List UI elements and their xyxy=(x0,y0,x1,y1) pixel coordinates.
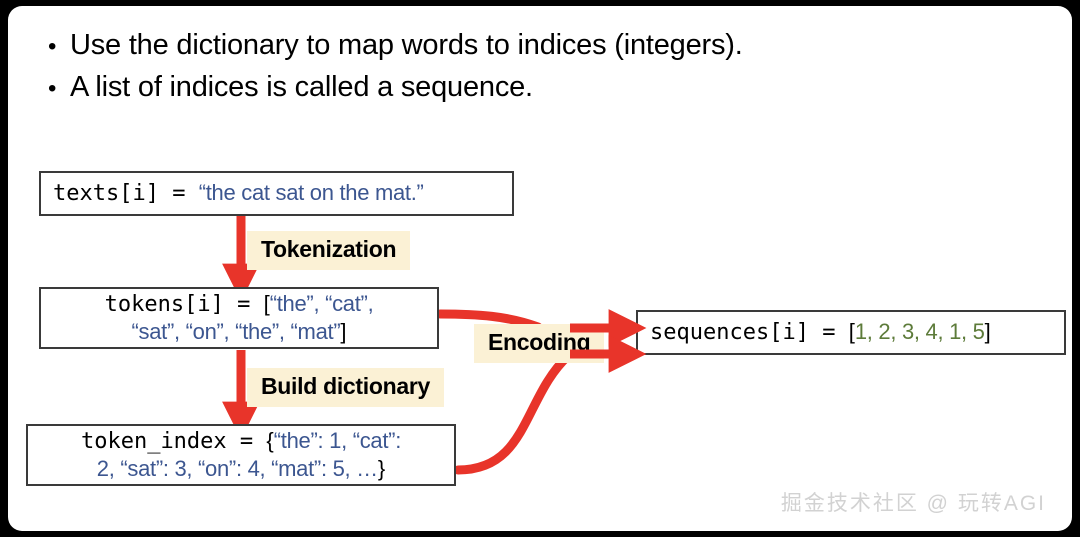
equals-sign: = xyxy=(240,429,253,454)
close-bracket: ] xyxy=(340,319,346,344)
code-box-texts: texts[i] = “the cat sat on the mat.” xyxy=(39,171,514,216)
string-literal: “the cat sat on the mat.” xyxy=(199,180,424,205)
var-name: tokens[i] xyxy=(105,292,224,317)
watermark: 掘金技术社区 @ 玩转AGI xyxy=(781,487,1046,517)
slide-canvas: • Use the dictionary to map words to ind… xyxy=(8,6,1072,531)
close-brace: } xyxy=(378,456,385,481)
equals-sign: = xyxy=(822,320,835,345)
var-name: texts[i] xyxy=(53,181,159,206)
token-list-line1: “the”, “cat”, xyxy=(270,291,374,316)
equals-sign: = xyxy=(172,181,185,206)
label-build-dictionary: Build dictionary xyxy=(247,368,444,407)
label-tokenization: Tokenization xyxy=(247,231,410,270)
equals-sign: = xyxy=(237,292,250,317)
code-box-token-index: token_index = {“the”: 1, “cat”: 2, “sat”… xyxy=(26,424,456,486)
token-list-line2: “sat”, “on”, “the”, “mat” xyxy=(132,319,341,344)
open-brace: { xyxy=(266,428,273,453)
code-line: tokens[i] = [“the”, “cat”, xyxy=(41,290,437,318)
code-line: 2, “sat”: 3, “on”: 4, “mat”: 5, …} xyxy=(28,455,454,483)
code-line: token_index = {“the”: 1, “cat”: xyxy=(28,427,454,455)
dict-line2: 2, “sat”: 3, “on”: 4, “mat”: 5, … xyxy=(97,456,378,481)
arrow-tokenindex-to-encoding xyxy=(458,356,568,470)
code-line: texts[i] = “the cat sat on the mat.” xyxy=(53,179,500,207)
code-box-tokens: tokens[i] = [“the”, “cat”, “sat”, “on”, … xyxy=(39,287,439,349)
sequence-values: 1, 2, 3, 4, 1, 5 xyxy=(855,319,985,344)
var-name: token_index xyxy=(81,429,227,454)
dict-line1: “the”: 1, “cat”: xyxy=(274,428,401,453)
close-bracket: ] xyxy=(985,319,991,344)
code-line: “sat”, “on”, “the”, “mat”] xyxy=(41,318,437,346)
code-line: sequences[i] = [1, 2, 3, 4, 1, 5] xyxy=(650,318,1052,346)
code-box-sequences: sequences[i] = [1, 2, 3, 4, 1, 5] xyxy=(636,310,1066,355)
label-encoding: Encoding xyxy=(474,324,604,363)
var-name: sequences[i] xyxy=(650,320,809,345)
